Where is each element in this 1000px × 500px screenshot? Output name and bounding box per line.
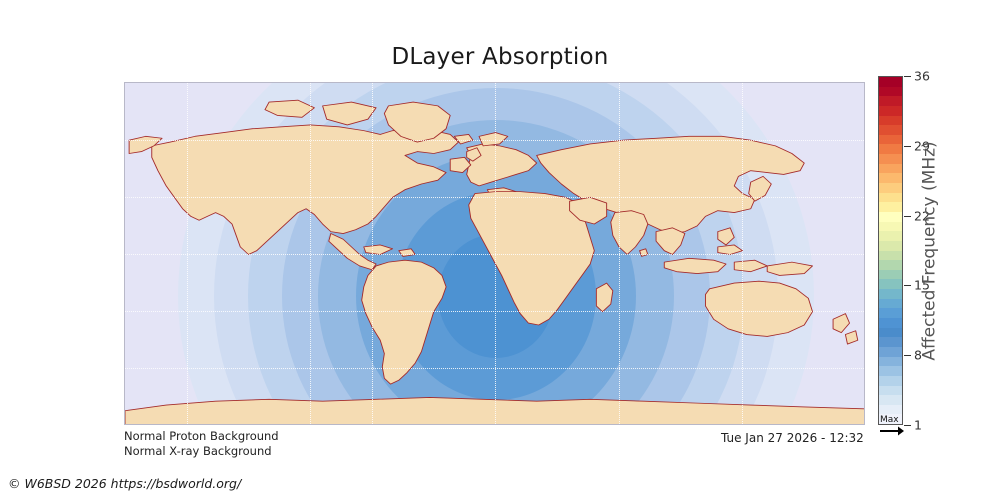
colorbar-segment (879, 299, 902, 309)
colorbar-tick (904, 216, 911, 217)
colorbar-segment (879, 405, 902, 415)
gridline-lon (495, 83, 496, 425)
copyright-notice: © W6BSD 2026 https://bsdworld.org/ (8, 476, 241, 491)
colorbar-segment (879, 308, 902, 318)
colorbar-segment (879, 173, 902, 183)
timestamp: Tue Jan 27 2026 - 12:32 (721, 431, 864, 445)
gridline-lon (619, 83, 620, 425)
colorbar-segment (879, 125, 902, 135)
xray-background-note: Normal X-ray Background (124, 444, 279, 459)
max-arrow-icon (880, 426, 904, 436)
colorbar-segment (879, 135, 902, 145)
gridline-lon (742, 83, 743, 425)
background-notes: Normal Proton Background Normal X-ray Ba… (124, 429, 279, 459)
colorbar-axis-label: Affected Frequency (MHz) (916, 76, 944, 425)
proton-background-note: Normal Proton Background (124, 429, 279, 444)
page-title: DLayer Absorption (0, 44, 1000, 70)
gridline-lon (187, 83, 188, 425)
colorbar-segment (879, 241, 902, 251)
colorbar-tick (904, 355, 911, 356)
colorbar-segment (879, 183, 902, 193)
colorbar-segment (879, 289, 902, 299)
world-map-panel (124, 82, 865, 425)
colorbar-segment (879, 144, 902, 154)
colorbar-segment (879, 193, 902, 203)
figure-root: DLayer Absorption (0, 0, 1000, 500)
colorbar-segment (879, 106, 902, 116)
gridline-lon (372, 83, 373, 425)
colorbar-tick (904, 425, 911, 426)
colorbar-segment (879, 395, 902, 405)
colorbar-segment (879, 260, 902, 270)
colorbar-tick (904, 285, 911, 286)
colorbar-segment (879, 328, 902, 338)
colorbar-segment (879, 279, 902, 289)
colorbar-segment (879, 251, 902, 261)
colorbar: 3629221581 Max (878, 76, 903, 425)
colorbar-segment (879, 337, 902, 347)
colorbar-gradient (878, 76, 903, 425)
colorbar-segment (879, 386, 902, 396)
colorbar-segment (879, 87, 902, 97)
colorbar-segment (879, 154, 902, 164)
colorbar-tick (904, 76, 911, 77)
colorbar-segment (879, 318, 902, 328)
colorbar-segment (879, 347, 902, 357)
colorbar-segment (879, 270, 902, 280)
colorbar-segment (879, 77, 902, 87)
colorbar-tick (904, 146, 911, 147)
colorbar-segment (879, 376, 902, 386)
colorbar-segment (879, 366, 902, 376)
colorbar-segment (879, 357, 902, 367)
colorbar-segment (879, 96, 902, 106)
colorbar-segment (879, 231, 902, 241)
colorbar-segment (879, 222, 902, 232)
colorbar-segment (879, 202, 902, 212)
colorbar-segment (879, 164, 902, 174)
max-marker: Max (880, 416, 904, 436)
max-marker-label: Max (880, 416, 904, 425)
colorbar-segment (879, 212, 902, 222)
gridline-lon (310, 83, 311, 425)
colorbar-segment (879, 116, 902, 126)
